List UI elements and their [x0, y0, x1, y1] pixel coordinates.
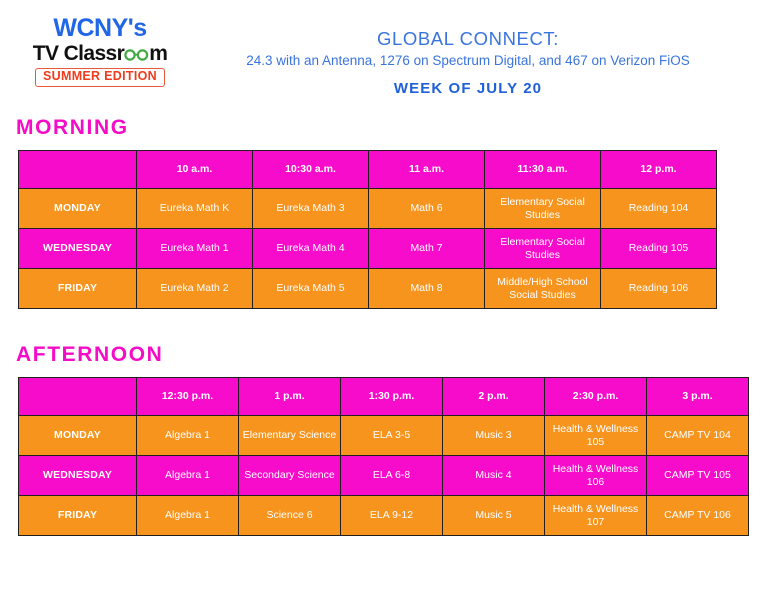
- afternoon-program-cell: Elementary Science: [239, 416, 341, 456]
- afternoon-section: AFTERNOON 12:30 p.m.1 p.m.1:30 p.m.2 p.m…: [0, 343, 768, 536]
- broadcast-info: GLOBAL CONNECT: 24.3 with an Antenna, 12…: [176, 28, 760, 97]
- afternoon-program-cell: ELA 3-5: [341, 416, 443, 456]
- morning-program-cell: Math 6: [369, 189, 485, 229]
- morning-program-cell: Elementary Social Studies: [485, 229, 601, 269]
- morning-day-column-header: [19, 151, 137, 189]
- afternoon-program-cell: Health & Wellness 107: [545, 496, 647, 536]
- morning-program-cell: Math 8: [369, 269, 485, 309]
- morning-program-cell: Reading 106: [601, 269, 717, 309]
- table-row: WEDNESDAYEureka Math 1Eureka Math 4Math …: [19, 229, 717, 269]
- morning-program-cell: Eureka Math 1: [137, 229, 253, 269]
- afternoon-time-header-6: 3 p.m.: [647, 378, 749, 416]
- morning-program-cell: Reading 104: [601, 189, 717, 229]
- afternoon-program-cell: CAMP TV 105: [647, 456, 749, 496]
- morning-program-cell: Eureka Math 3: [253, 189, 369, 229]
- afternoon-time-header-1: 12:30 p.m.: [137, 378, 239, 416]
- afternoon-day-label-monday: MONDAY: [19, 416, 137, 456]
- morning-program-cell: Elementary Social Studies: [485, 189, 601, 229]
- morning-program-cell: Eureka Math 2: [137, 269, 253, 309]
- afternoon-program-cell: Secondary Science: [239, 456, 341, 496]
- afternoon-program-cell: Music 4: [443, 456, 545, 496]
- morning-schedule-table: 10 a.m.10:30 a.m.11 a.m.11:30 a.m.12 p.m…: [18, 150, 717, 309]
- global-connect-title: GLOBAL CONNECT:: [176, 28, 760, 50]
- afternoon-program-cell: Science 6: [239, 496, 341, 536]
- afternoon-program-cell: CAMP TV 106: [647, 496, 749, 536]
- morning-time-header-2: 10:30 a.m.: [253, 151, 369, 189]
- table-row: FRIDAYEureka Math 2Eureka Math 5Math 8Mi…: [19, 269, 717, 309]
- morning-program-cell: Eureka Math 5: [253, 269, 369, 309]
- afternoon-program-cell: Health & Wellness 105: [545, 416, 647, 456]
- afternoon-header-row: 12:30 p.m.1 p.m.1:30 p.m.2 p.m.2:30 p.m.…: [19, 378, 749, 416]
- morning-time-header-4: 11:30 a.m.: [485, 151, 601, 189]
- afternoon-table-head: 12:30 p.m.1 p.m.1:30 p.m.2 p.m.2:30 p.m.…: [19, 378, 749, 416]
- logo-tv-classroom-text: TV Classrm: [26, 43, 174, 64]
- afternoon-program-cell: Algebra 1: [137, 456, 239, 496]
- afternoon-time-header-5: 2:30 p.m.: [545, 378, 647, 416]
- table-row: WEDNESDAYAlgebra 1Secondary ScienceELA 6…: [19, 456, 749, 496]
- morning-time-header-3: 11 a.m.: [369, 151, 485, 189]
- afternoon-day-label-friday: FRIDAY: [19, 496, 137, 536]
- logo-classroom-prefix: TV Classr: [33, 42, 124, 65]
- morning-day-label-wednesday: WEDNESDAY: [19, 229, 137, 269]
- logo-classroom-suffix: m: [149, 42, 167, 65]
- afternoon-program-cell: CAMP TV 104: [647, 416, 749, 456]
- morning-time-header-1: 10 a.m.: [137, 151, 253, 189]
- afternoon-program-cell: Music 5: [443, 496, 545, 536]
- morning-time-header-5: 12 p.m.: [601, 151, 717, 189]
- morning-table-body: MONDAYEureka Math KEureka Math 3Math 6El…: [19, 189, 717, 309]
- morning-day-label-monday: MONDAY: [19, 189, 137, 229]
- afternoon-day-column-header: [19, 378, 137, 416]
- afternoon-heading: AFTERNOON: [16, 343, 768, 367]
- morning-section: MORNING 10 a.m.10:30 a.m.11 a.m.11:30 a.…: [0, 116, 768, 309]
- afternoon-program-cell: Algebra 1: [137, 496, 239, 536]
- morning-program-cell: Eureka Math K: [137, 189, 253, 229]
- table-row: FRIDAYAlgebra 1Science 6ELA 9-12Music 5H…: [19, 496, 749, 536]
- afternoon-time-header-4: 2 p.m.: [443, 378, 545, 416]
- afternoon-schedule-table: 12:30 p.m.1 p.m.1:30 p.m.2 p.m.2:30 p.m.…: [18, 377, 749, 536]
- afternoon-program-cell: Algebra 1: [137, 416, 239, 456]
- morning-day-label-friday: FRIDAY: [19, 269, 137, 309]
- table-row: MONDAYAlgebra 1Elementary ScienceELA 3-5…: [19, 416, 749, 456]
- afternoon-program-cell: ELA 9-12: [341, 496, 443, 536]
- afternoon-program-cell: Health & Wellness 106: [545, 456, 647, 496]
- morning-heading: MORNING: [16, 116, 768, 140]
- summer-edition-badge: SUMMER EDITION: [35, 68, 165, 87]
- table-row: MONDAYEureka Math KEureka Math 3Math 6El…: [19, 189, 717, 229]
- morning-program-cell: Middle/High School Social Studies: [485, 269, 601, 309]
- page-header: WCNY's TV Classrm SUMMER EDITION GLOBAL …: [0, 0, 768, 108]
- afternoon-time-header-3: 1:30 p.m.: [341, 378, 443, 416]
- morning-table-head: 10 a.m.10:30 a.m.11 a.m.11:30 a.m.12 p.m…: [19, 151, 717, 189]
- morning-program-cell: Math 7: [369, 229, 485, 269]
- wcny-logo: WCNY's TV Classrm SUMMER EDITION: [26, 16, 174, 87]
- afternoon-table-body: MONDAYAlgebra 1Elementary ScienceELA 3-5…: [19, 416, 749, 536]
- afternoon-program-cell: ELA 6-8: [341, 456, 443, 496]
- afternoon-program-cell: Music 3: [443, 416, 545, 456]
- green-glasses-icon: [124, 48, 149, 61]
- morning-program-cell: Reading 105: [601, 229, 717, 269]
- afternoon-time-header-2: 1 p.m.: [239, 378, 341, 416]
- afternoon-day-label-wednesday: WEDNESDAY: [19, 456, 137, 496]
- channel-listing: 24.3 with an Antenna, 1276 on Spectrum D…: [176, 53, 760, 68]
- morning-header-row: 10 a.m.10:30 a.m.11 a.m.11:30 a.m.12 p.m…: [19, 151, 717, 189]
- morning-program-cell: Eureka Math 4: [253, 229, 369, 269]
- logo-wcny-text: WCNY's: [26, 16, 174, 41]
- week-of-title: WEEK OF JULY 20: [176, 80, 760, 97]
